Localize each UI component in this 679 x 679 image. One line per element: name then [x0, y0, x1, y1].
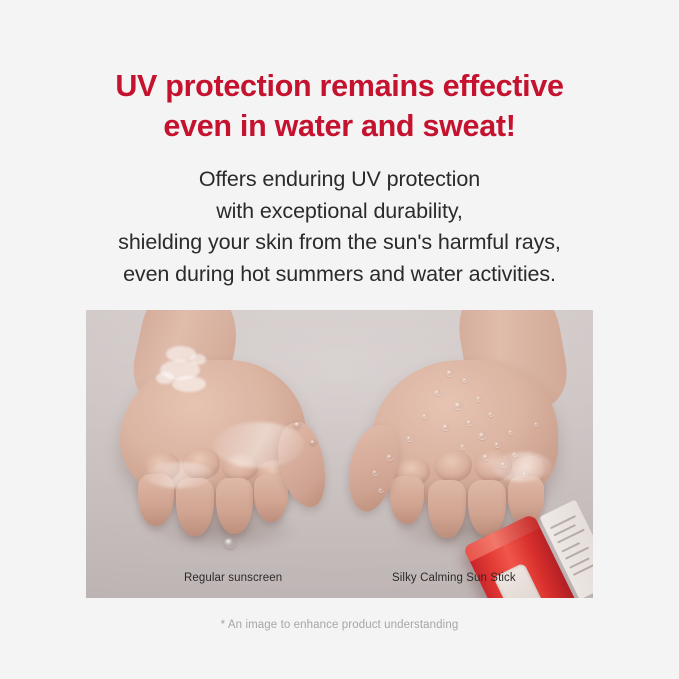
sunscreen-residue-patch	[190, 354, 206, 365]
water-bead	[406, 436, 413, 442]
water-bead	[386, 454, 394, 461]
water-bead	[460, 444, 466, 450]
water-droplet	[294, 422, 301, 428]
headline-line-2: even in water and sweat!	[0, 106, 679, 146]
water-bead	[508, 430, 514, 435]
water-bead	[378, 488, 384, 493]
sunscreen-residue-patch	[156, 372, 174, 384]
water-bead	[488, 412, 494, 417]
headline-line-1: UV protection remains effective	[0, 66, 679, 106]
photo-label-sun-stick: Silky Calming Sun Stick	[392, 572, 516, 584]
promo-page: UV protection remains effective even in …	[0, 0, 679, 679]
water-bead	[534, 422, 539, 427]
water-bead	[478, 432, 487, 440]
sunscreen-residue-patch	[172, 376, 206, 392]
water-bead	[446, 370, 454, 377]
water-droplet	[224, 538, 236, 549]
water-bead	[434, 390, 441, 396]
photo-label-regular-sunscreen: Regular sunscreen	[184, 572, 282, 584]
image-disclaimer-footnote: * An image to enhance product understand…	[0, 619, 679, 631]
water-bead	[442, 424, 450, 431]
page-headline: UV protection remains effective even in …	[0, 66, 679, 146]
water-droplet	[310, 440, 316, 445]
water-bead	[476, 396, 482, 402]
water-bead	[454, 402, 463, 410]
body-copy: Offers enduring UV protection with excep…	[0, 164, 679, 290]
body-line-4: even during hot summers and water activi…	[0, 259, 679, 291]
water-bead	[462, 378, 468, 383]
water-bead	[422, 414, 428, 419]
water-bead	[372, 470, 379, 476]
water-bead	[494, 442, 501, 448]
body-line-2: with exceptional durability,	[0, 196, 679, 228]
left-hand-regular-sunscreen	[104, 310, 334, 570]
body-line-1: Offers enduring UV protection	[0, 164, 679, 196]
body-line-3: shielding your skin from the sun's harmf…	[0, 227, 679, 259]
product-comparison-photo: Regular sunscreen Silky Calming Sun Stic…	[86, 310, 593, 598]
water-bead	[466, 420, 473, 426]
water-bead	[482, 454, 490, 461]
